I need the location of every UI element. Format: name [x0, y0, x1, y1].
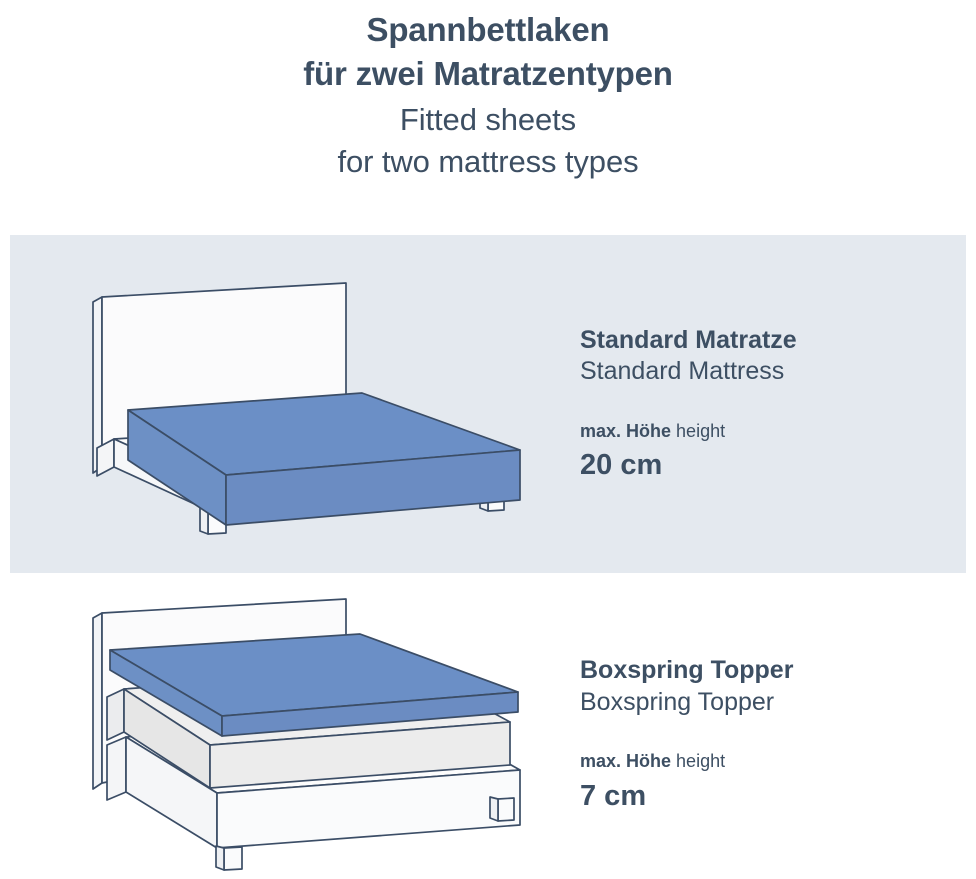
mattress-layer-left-cap — [107, 689, 124, 740]
standard-bed-svg — [10, 235, 570, 573]
page-title-en-line1: Fitted sheets — [0, 99, 976, 141]
height-label-de: max. Höhe — [580, 751, 671, 771]
boxspring-topper-text: Boxspring Topper Boxspring Topper max. H… — [570, 655, 966, 813]
boxspring-bed-svg — [10, 590, 570, 879]
height-value: 7 cm — [580, 779, 966, 814]
standard-mattress-text: Standard Matratze Standard Mattress max.… — [570, 325, 966, 483]
height-label: max. Höhe height — [580, 750, 966, 773]
mattress-name-de: Standard Matratze — [580, 325, 966, 357]
page-title-en: Fitted sheets for two mattress types — [0, 99, 976, 183]
height-label: max. Höhe height — [580, 420, 966, 443]
box-leg-front-left-side — [216, 846, 224, 870]
boxspring-bed-illustration — [10, 590, 570, 879]
mattress-name-de: Boxspring Topper — [580, 655, 966, 687]
mattress-name-en: Standard Mattress — [580, 356, 966, 388]
standard-bed-illustration — [10, 235, 570, 573]
height-value: 20 cm — [580, 448, 966, 483]
height-label-en: height — [676, 751, 725, 771]
box-leg-front-right — [498, 798, 514, 821]
headboard-edge — [93, 613, 102, 789]
box-base-left-cap — [107, 737, 126, 800]
box-leg-front-right-side — [490, 797, 498, 821]
page-title-de-line2: für zwei Matratzentypen — [0, 52, 976, 96]
page-title-en-line2: for two mattress types — [0, 141, 976, 183]
height-label-de: max. Höhe — [580, 421, 671, 441]
box-leg-front-left — [224, 847, 242, 870]
mattress-name-en: Boxspring Topper — [580, 687, 966, 719]
page-title-de-line1: Spannbettlaken — [0, 8, 976, 52]
page-header: Spannbettlaken für zwei Matratzentypen F… — [0, 0, 976, 183]
panel-standard-mattress: Standard Matratze Standard Mattress max.… — [10, 235, 966, 573]
height-label-en: height — [676, 421, 725, 441]
panel-boxspring-topper: Boxspring Topper Boxspring Topper max. H… — [10, 590, 966, 879]
page-title-de: Spannbettlaken für zwei Matratzentypen — [0, 8, 976, 95]
